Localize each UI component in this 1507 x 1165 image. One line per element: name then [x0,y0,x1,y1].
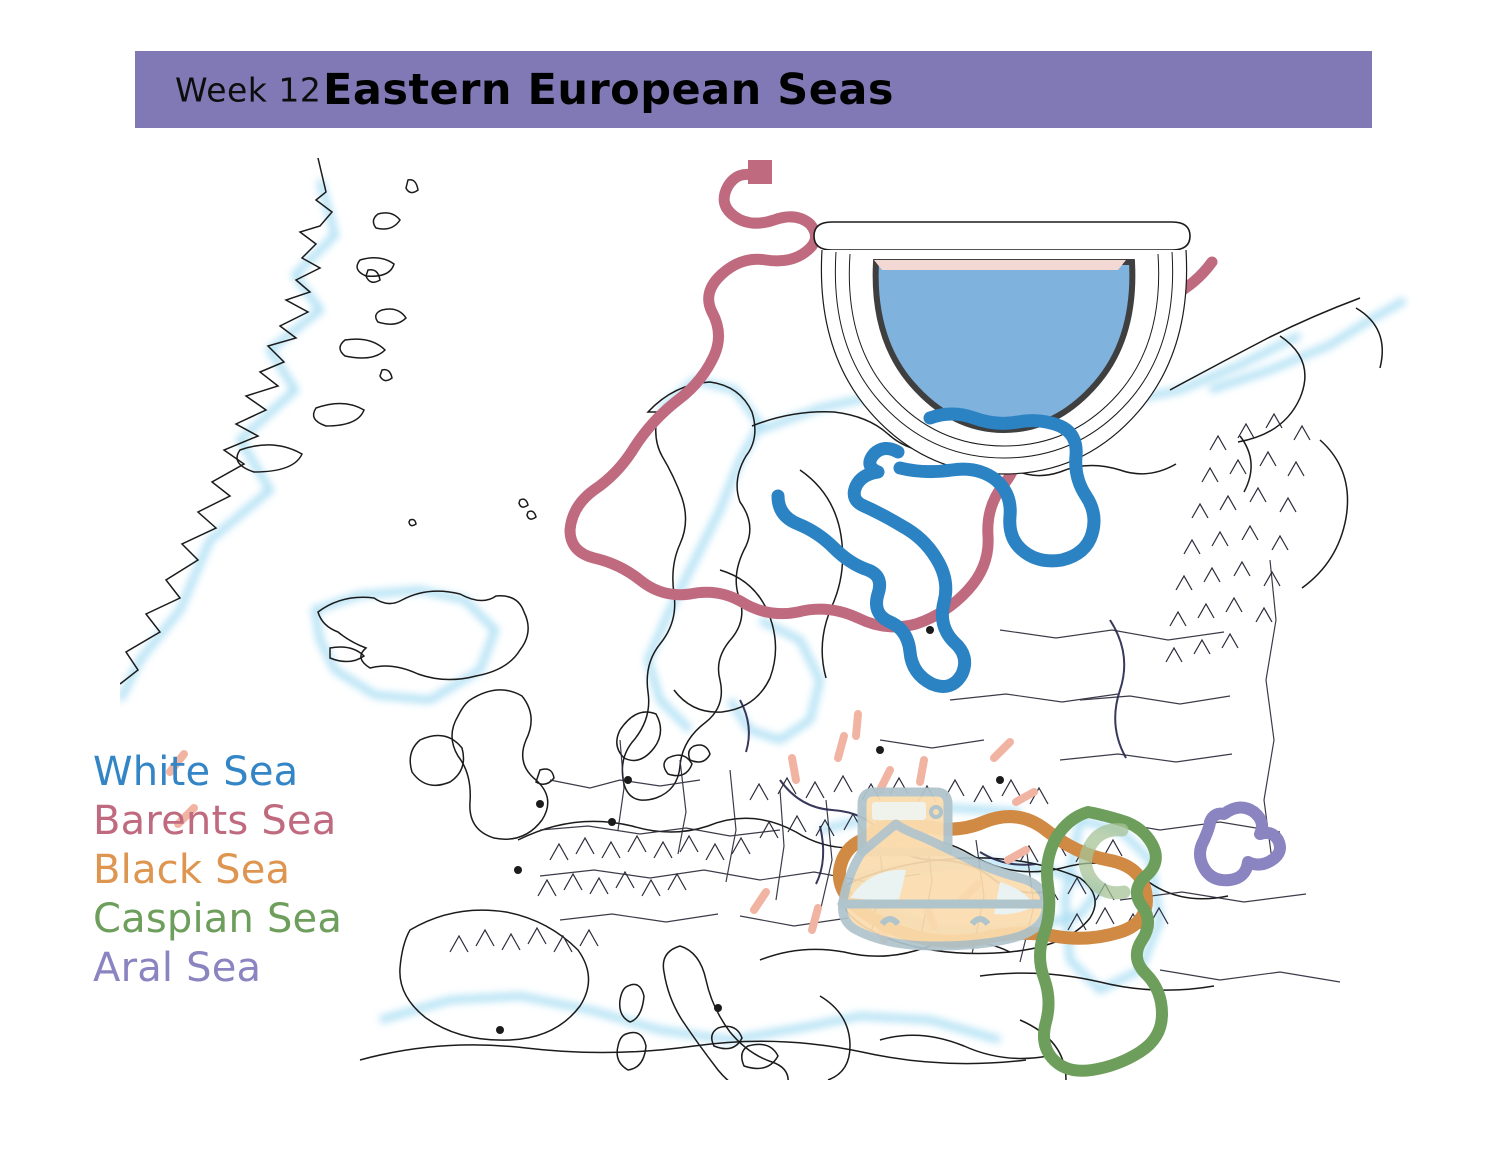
legend-item-aral-sea[interactable]: Aral Sea [93,944,393,993]
title-bar: Week 12 Eastern European Seas [135,51,1372,128]
legend-item-barents-sea[interactable]: Barents Sea [93,797,393,846]
page-title: Eastern European Seas [135,65,1372,115]
legend-item-black-sea[interactable]: Black Sea [93,846,393,895]
mountain-range-symbols [450,776,1168,952]
legend-item-white-sea[interactable]: White Sea [93,748,393,797]
ural-mountains-symbols [1166,414,1310,662]
aral-sea-highlight[interactable] [1200,807,1280,880]
bowl-sticker[interactable] [814,222,1190,474]
legend: White Sea Barents Sea Black Sea Caspian … [93,748,393,993]
legend-item-caspian-sea[interactable]: Caspian Sea [93,895,393,944]
